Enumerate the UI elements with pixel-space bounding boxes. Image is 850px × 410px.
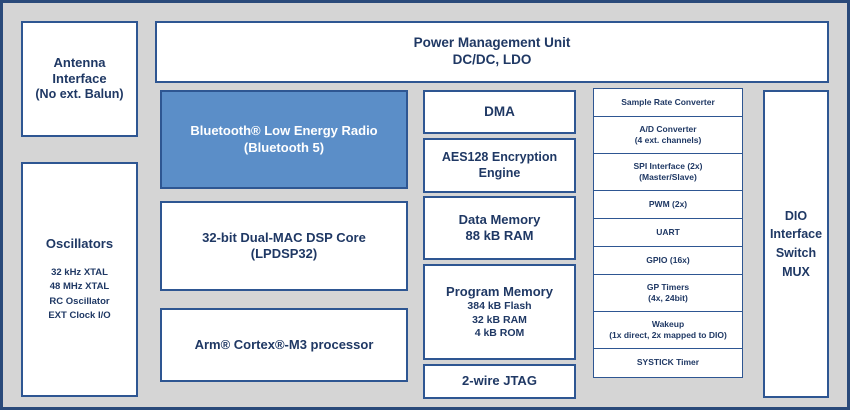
oscillators-item-2: RC Oscillator — [49, 295, 109, 309]
program-memory-title: Program Memory — [446, 284, 553, 300]
dio-line-2: Interface — [770, 225, 822, 244]
soc-block-diagram: Antenna Interface (No ext. Balun) Oscill… — [0, 0, 850, 410]
block-bluetooth-low-energy-radio: Bluetooth® Low Energy Radio (Bluetooth 5… — [160, 90, 408, 189]
block-sample-rate-converter: Sample Rate Converter — [593, 88, 743, 117]
antenna-note: (No ext. Balun) — [35, 87, 123, 103]
block-dsp-core: 32-bit Dual-MAC DSP Core (LPDSP32) — [160, 201, 408, 291]
program-memory-item-1: 32 kB RAM — [472, 314, 527, 327]
dio-line-4: MUX — [782, 263, 810, 282]
peripheral-subtitle: (4 ext. channels) — [635, 135, 702, 146]
block-spi-interface: SPI Interface (2x) (Master/Slave) — [593, 153, 743, 191]
antenna-title-line2: Interface — [52, 71, 106, 87]
dio-line-1: DIO — [785, 207, 807, 226]
block-systick-timer: SYSTICK Timer — [593, 348, 743, 378]
antenna-title-line1: Antenna — [54, 55, 106, 71]
peripheral-title: GP Timers — [647, 282, 689, 293]
aes-subtitle: Engine — [479, 166, 521, 182]
peripheral-subtitle: (4x, 24bit) — [648, 293, 688, 304]
block-power-management-unit: Power Management Unit DC/DC, LDO — [155, 21, 829, 83]
peripheral-title: PWM (2x) — [649, 199, 687, 210]
block-program-memory: Program Memory 384 kB Flash 32 kB RAM 4 … — [423, 264, 576, 360]
program-memory-item-2: 4 kB ROM — [475, 327, 525, 340]
block-gp-timers: GP Timers (4x, 24bit) — [593, 274, 743, 312]
block-dma: DMA — [423, 90, 576, 134]
cortex-title: Arm® Cortex®-M3 processor — [195, 337, 374, 353]
dsp-subtitle: (LPDSP32) — [251, 246, 317, 262]
block-aes128-encryption-engine: AES128 Encryption Engine — [423, 138, 576, 193]
radio-title: Bluetooth® Low Energy Radio — [190, 123, 377, 139]
block-pwm: PWM (2x) — [593, 190, 743, 219]
peripheral-title: UART — [656, 227, 680, 238]
peripheral-title: SYSTICK Timer — [637, 357, 699, 368]
peripheral-title: Sample Rate Converter — [621, 97, 715, 108]
program-memory-item-0: 384 kB Flash — [467, 300, 531, 313]
dma-title: DMA — [484, 104, 515, 121]
block-wakeup: Wakeup (1x direct, 2x mapped to DIO) — [593, 311, 743, 349]
oscillators-title: Oscillators — [46, 236, 113, 252]
radio-subtitle: (Bluetooth 5) — [244, 140, 324, 156]
block-gpio: GPIO (16x) — [593, 246, 743, 275]
peripheral-title: A/D Converter — [639, 124, 696, 135]
pmu-title: Power Management Unit — [414, 35, 571, 52]
block-uart: UART — [593, 218, 743, 247]
block-data-memory: Data Memory 88 kB RAM — [423, 196, 576, 260]
peripheral-subtitle: (1x direct, 2x mapped to DIO) — [609, 330, 727, 341]
dsp-title: 32-bit Dual-MAC DSP Core — [202, 230, 366, 246]
block-antenna-interface: Antenna Interface (No ext. Balun) — [21, 21, 138, 137]
data-memory-size: 88 kB RAM — [466, 228, 534, 244]
block-dio-interface-switch-mux: DIO Interface Switch MUX — [763, 90, 829, 398]
dio-line-3: Switch — [776, 244, 816, 263]
block-oscillators: Oscillators 32 kHz XTAL 48 MHz XTAL RC O… — [21, 162, 138, 397]
pmu-subtitle: DC/DC, LDO — [453, 52, 532, 69]
peripheral-title: Wakeup — [652, 319, 684, 330]
oscillators-item-3: EXT Clock I/O — [48, 309, 110, 323]
peripheral-subtitle: (Master/Slave) — [639, 172, 697, 183]
aes-title: AES128 Encryption — [442, 150, 557, 166]
peripheral-title: GPIO (16x) — [646, 255, 689, 266]
oscillators-item-0: 32 kHz XTAL — [51, 266, 108, 280]
peripheral-title: SPI Interface (2x) — [634, 161, 703, 172]
jtag-title: 2-wire JTAG — [462, 373, 537, 389]
oscillators-item-1: 48 MHz XTAL — [50, 280, 109, 294]
data-memory-title: Data Memory — [459, 212, 541, 228]
block-ad-converter: A/D Converter (4 ext. channels) — [593, 116, 743, 154]
block-2-wire-jtag: 2-wire JTAG — [423, 364, 576, 399]
block-cortex-m3-processor: Arm® Cortex®-M3 processor — [160, 308, 408, 382]
